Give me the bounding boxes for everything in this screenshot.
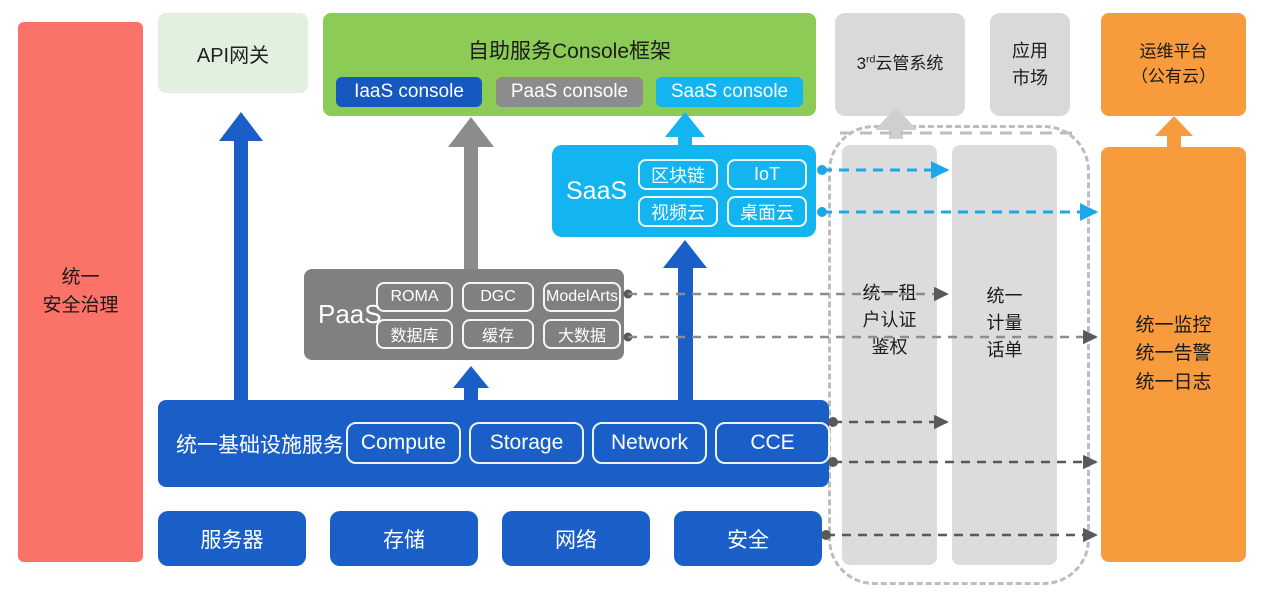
billing-line1: 统一 xyxy=(952,283,1057,310)
saas-tag-blockchain-label: 区块链 xyxy=(651,162,705,188)
ops-main-line1: 统一监控 xyxy=(1135,312,1211,341)
infra-tag-storage-label: Storage xyxy=(490,431,564,455)
arrow-saas-to-saas-console xyxy=(665,112,705,147)
saas-tag-iot-label: IoT xyxy=(754,164,780,185)
infra-tag-cce-label: CCE xyxy=(750,431,794,455)
resource-storage-label: 存储 xyxy=(383,524,425,554)
paas-tag-modelarts-label: ModelArts xyxy=(546,288,618,306)
resource-server-label: 服务器 xyxy=(201,524,264,554)
paas-tag-dgc-label: DGC xyxy=(480,288,516,306)
ops-platform-top-line1: 运维平台 xyxy=(1131,40,1216,65)
paas-tag-modelarts[interactable]: ModelArts xyxy=(543,282,621,312)
infra-tag-cce[interactable]: CCE xyxy=(715,422,830,464)
infra-tag-storage[interactable]: Storage xyxy=(469,422,584,464)
saas-tag-iot[interactable]: IoT xyxy=(727,159,807,190)
auth-line2: 户认证 xyxy=(842,307,937,334)
infra-tag-network[interactable]: Network xyxy=(592,422,707,464)
resource-server-box[interactable]: 服务器 xyxy=(158,511,306,566)
unified-tenant-auth-label: 统一租 户认证 鉴权 xyxy=(842,280,937,361)
saas-layer: SaaS 区块链 IoT 视频云 桌面云 xyxy=(552,145,816,237)
billing-line2: 计量 xyxy=(952,310,1057,337)
iaas-console-chip[interactable]: IaaS console xyxy=(336,77,482,107)
paas-tag-database-label: 数据库 xyxy=(390,322,438,346)
api-gateway-box[interactable]: API网关 xyxy=(158,13,308,93)
ops-platform-monitoring-panel: 统一监控 统一告警 统一日志 xyxy=(1101,147,1246,562)
infra-layer-label: 统一基础设施服务 xyxy=(176,400,344,487)
left-panel-line1: 统一 xyxy=(42,264,118,292)
unified-security-governance-panel: 统一 安全治理 xyxy=(18,22,143,562)
resource-network-label: 网络 xyxy=(555,524,597,554)
paas-tag-roma[interactable]: ROMA xyxy=(376,282,453,312)
auth-line1: 统一租 xyxy=(842,280,937,307)
app-market-box[interactable]: 应用 市场 xyxy=(990,13,1070,116)
paas-layer-label: PaaS xyxy=(318,269,382,360)
paas-tag-cache[interactable]: 缓存 xyxy=(462,319,534,349)
paas-tag-cache-label: 缓存 xyxy=(482,322,514,346)
paas-tag-database[interactable]: 数据库 xyxy=(376,319,453,349)
ops-platform-public-cloud-box[interactable]: 运维平台 （公有云） xyxy=(1101,13,1246,116)
arrow-infra-to-saas xyxy=(663,240,707,400)
third-party-prefix: 3 xyxy=(857,54,866,73)
auth-line3: 鉴权 xyxy=(842,334,937,361)
paas-tag-dgc[interactable]: DGC xyxy=(462,282,534,312)
arrow-paas-to-console xyxy=(448,117,494,269)
app-market-line1: 应用 xyxy=(1012,38,1048,64)
saas-tag-desktop-cloud-label: 桌面云 xyxy=(740,199,794,225)
resource-security-box[interactable]: 安全 xyxy=(674,511,822,566)
infra-tag-network-label: Network xyxy=(611,431,688,455)
iaas-console-label: IaaS console xyxy=(354,81,464,103)
unified-infrastructure-layer: 统一基础设施服务 Compute Storage Network CCE xyxy=(158,400,829,487)
infra-tag-compute-label: Compute xyxy=(361,431,446,455)
arrow-infra-to-paas xyxy=(453,366,489,400)
billing-line3: 话单 xyxy=(952,337,1057,364)
ops-platform-top-line2: （公有云） xyxy=(1131,65,1216,90)
third-party-suffix: 云管系统 xyxy=(875,54,943,73)
unified-billing-label: 统一 计量 话单 xyxy=(952,283,1057,364)
self-service-console-frame: 自助服务Console框架 IaaS console PaaS console … xyxy=(323,13,816,116)
left-panel-line2: 安全治理 xyxy=(42,292,118,320)
paas-tag-roma-label: ROMA xyxy=(391,288,439,306)
resource-security-label: 安全 xyxy=(727,524,769,554)
paas-console-chip[interactable]: PaaS console xyxy=(496,77,643,107)
saas-layer-label: SaaS xyxy=(566,145,627,237)
paas-console-label: PaaS console xyxy=(511,81,628,103)
ops-main-line2: 统一告警 xyxy=(1135,340,1211,369)
infra-tag-compute[interactable]: Compute xyxy=(346,422,461,464)
resource-storage-box[interactable]: 存储 xyxy=(330,511,478,566)
architecture-diagram: 统一 安全治理 API网关 自助服务Console框架 IaaS console… xyxy=(0,0,1265,605)
saas-console-label: SaaS console xyxy=(671,81,788,103)
saas-tag-desktop-cloud[interactable]: 桌面云 xyxy=(727,196,807,227)
app-market-line2: 市场 xyxy=(1012,65,1048,91)
saas-tag-video-cloud[interactable]: 视频云 xyxy=(638,196,718,227)
third-party-cloud-mgmt-box[interactable]: 3rd云管系统 xyxy=(835,13,965,116)
paas-tag-bigdata[interactable]: 大数据 xyxy=(543,319,621,349)
ops-main-line3: 统一日志 xyxy=(1135,369,1211,398)
arrow-ops-main-to-ops-top xyxy=(1155,116,1193,148)
paas-layer: PaaS ROMA DGC ModelArts 数据库 缓存 大数据 xyxy=(304,269,624,360)
third-party-cloud-mgmt-label: 3rd云管系统 xyxy=(857,52,944,77)
resource-network-box[interactable]: 网络 xyxy=(502,511,650,566)
saas-tag-video-cloud-label: 视频云 xyxy=(651,199,705,225)
console-frame-title: 自助服务Console框架 xyxy=(323,35,816,65)
api-gateway-label: API网关 xyxy=(197,39,269,68)
saas-console-chip[interactable]: SaaS console xyxy=(656,77,803,107)
arrow-infra-to-api-gateway xyxy=(219,112,263,400)
saas-tag-blockchain[interactable]: 区块链 xyxy=(638,159,718,190)
paas-tag-bigdata-label: 大数据 xyxy=(558,322,606,346)
